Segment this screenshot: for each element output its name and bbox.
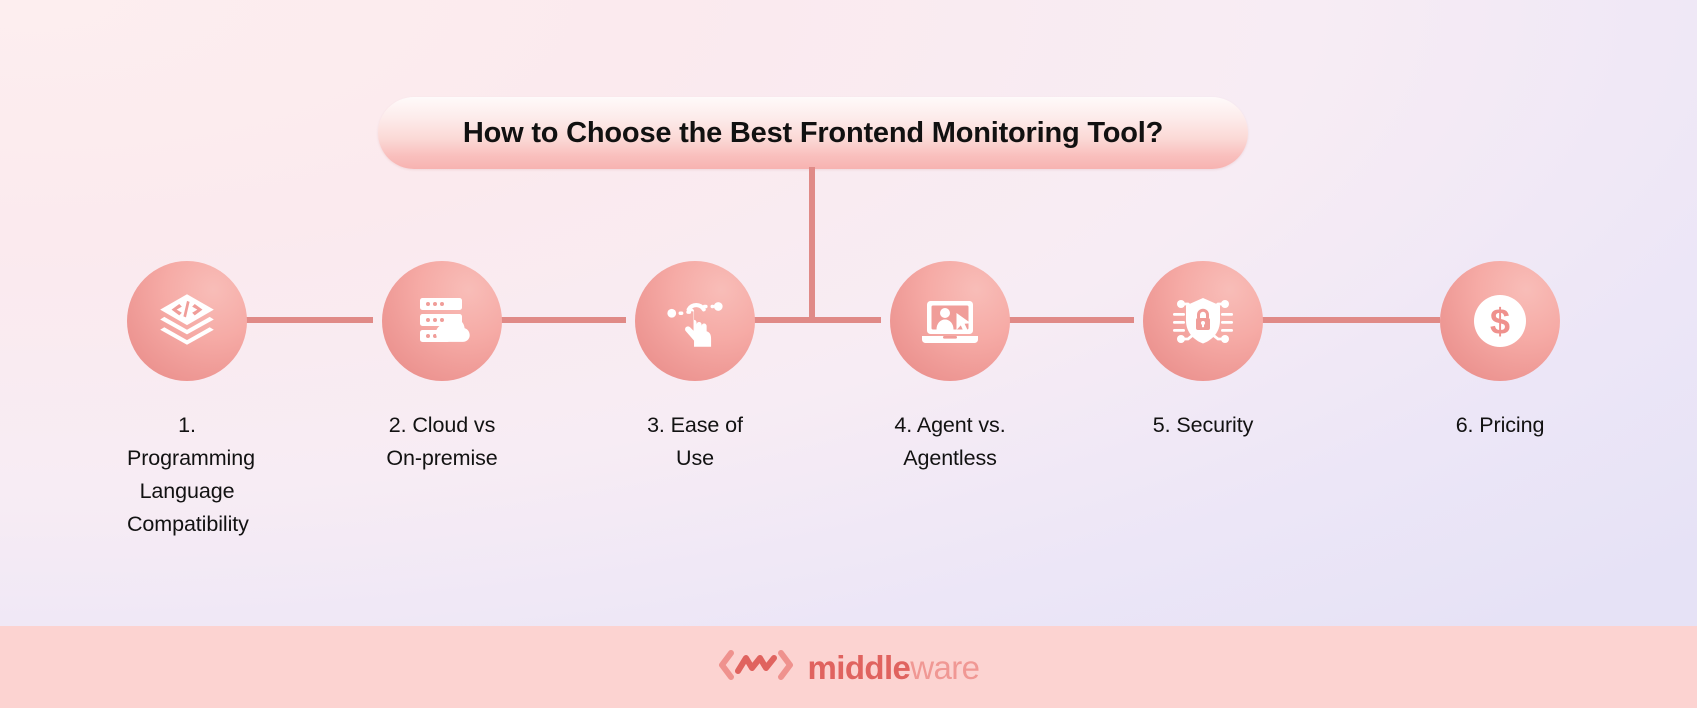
step-icon-circle-4 xyxy=(890,261,1010,381)
connector-4-5 xyxy=(1001,317,1134,323)
brand-name-bold: middle xyxy=(808,649,911,686)
step-label-1: 1. Programming Language Compatibility xyxy=(127,409,247,541)
step-label-3: 3. Ease of Use xyxy=(635,409,755,475)
connector-1-2 xyxy=(238,317,373,323)
step-node-6[interactable]: $ 6. Pricing xyxy=(1440,261,1560,442)
connector-5-6 xyxy=(1254,317,1440,323)
shield-lock-circuit-icon xyxy=(1171,289,1235,353)
dollar-coin-icon: $ xyxy=(1468,289,1532,353)
step-icon-circle-5 xyxy=(1143,261,1263,381)
infographic-canvas: How to Choose the Best Frontend Monitori… xyxy=(0,0,1697,708)
middleware-logo-mark-icon xyxy=(718,645,794,690)
step-node-3[interactable]: 3. Ease of Use xyxy=(635,261,755,475)
connector-3-4 xyxy=(746,317,881,323)
server-cloud-icon xyxy=(410,289,474,353)
svg-text:$: $ xyxy=(1490,301,1510,342)
title-pill: How to Choose the Best Frontend Monitori… xyxy=(378,97,1248,169)
step-icon-circle-3 xyxy=(635,261,755,381)
brand-name-light: ware xyxy=(910,649,979,686)
code-layers-icon xyxy=(154,288,220,354)
hand-tap-icon xyxy=(664,290,726,352)
step-label-6: 6. Pricing xyxy=(1440,409,1560,442)
step-icon-circle-6: $ xyxy=(1440,261,1560,381)
step-node-4[interactable]: 4. Agent vs. Agentless xyxy=(890,261,1010,475)
vertical-connector xyxy=(809,167,815,322)
laptop-user-cursor-icon xyxy=(918,289,982,353)
step-node-5[interactable]: 5. Security xyxy=(1143,261,1263,442)
footer-bar: middleware xyxy=(0,626,1697,708)
page-title: How to Choose the Best Frontend Monitori… xyxy=(463,117,1163,150)
brand-wordmark: middleware xyxy=(808,651,980,684)
step-label-5: 5. Security xyxy=(1143,409,1263,442)
step-node-2[interactable]: 2. Cloud vs On-premise xyxy=(382,261,502,475)
connector-2-3 xyxy=(493,317,626,323)
step-node-1[interactable]: 1. Programming Language Compatibility xyxy=(127,261,247,541)
step-label-2: 2. Cloud vs On-premise xyxy=(382,409,502,475)
step-label-4: 4. Agent vs. Agentless xyxy=(890,409,1010,475)
step-icon-circle-2 xyxy=(382,261,502,381)
step-icon-circle-1 xyxy=(127,261,247,381)
